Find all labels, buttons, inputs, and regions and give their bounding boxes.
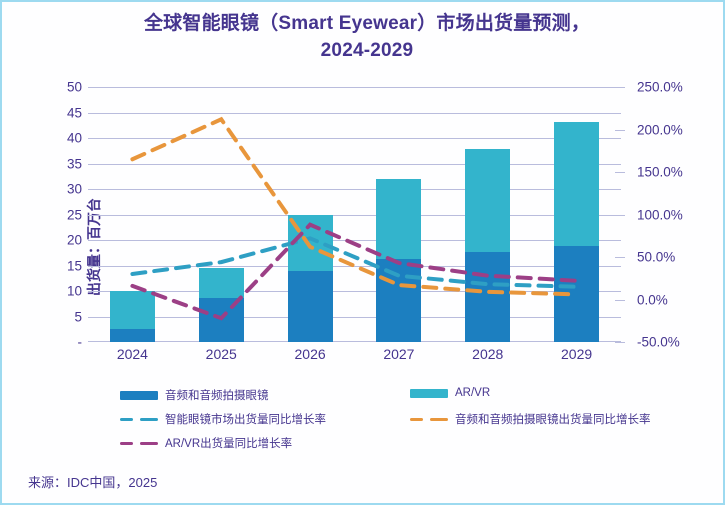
- y-axis-left-tick: 45: [42, 105, 82, 120]
- x-axis-tick-2026: 2026: [275, 346, 345, 362]
- y-axis-right-tick: 200.0%: [637, 122, 683, 137]
- y-axis-right-tick: 250.0%: [637, 80, 683, 95]
- y-axis-left-tick: 40: [42, 131, 82, 146]
- y-axis-right-tickmark: [615, 87, 625, 88]
- chart-frame: 全球智能眼镜（Smart Eyewear）市场出货量预测， 2024-2029 …: [0, 0, 725, 505]
- x-axis-tick-2029: 2029: [542, 346, 612, 362]
- legend-label: 音频和音频拍摄眼镜出货量同比增长率: [455, 411, 651, 427]
- plot-area: [88, 87, 621, 342]
- legend-swatch-dash: [120, 439, 158, 448]
- y-axis-left-tick: 35: [42, 156, 82, 171]
- legend-item[interactable]: 音频和音频拍摄眼镜: [120, 387, 269, 403]
- legend-swatch-bar: [410, 389, 448, 398]
- gridline: [88, 215, 621, 216]
- chart-title-line1: 全球智能眼镜（Smart Eyewear）市场出货量预测，: [62, 10, 672, 37]
- y-axis-left: 出货量：百万台 5045403530252015105-: [36, 87, 82, 342]
- legend-label: AR/VR出货量同比增长率: [165, 435, 292, 451]
- y-axis-left-tick: 5: [42, 309, 82, 324]
- bar-column[interactable]: [554, 87, 599, 342]
- legend-item[interactable]: AR/VR: [410, 387, 490, 399]
- x-axis-labels: 202420252026202720282029: [88, 346, 621, 370]
- bar-column[interactable]: [110, 87, 155, 342]
- y-axis-left-tick: 25: [42, 207, 82, 222]
- bar-segment-audio[interactable]: [110, 329, 155, 342]
- bar-column[interactable]: [376, 87, 421, 342]
- chart-legend: 音频和音频拍摄眼镜AR/VR智能眼镜市场出货量同比增长率音频和音频拍摄眼镜出货量…: [120, 387, 680, 457]
- y-axis-right-tickmark: [615, 342, 625, 343]
- gridline: [88, 189, 621, 190]
- legend-item[interactable]: 智能眼镜市场出货量同比增长率: [120, 411, 326, 427]
- gridline: [88, 291, 621, 292]
- y-axis-right-tick: 50.0%: [637, 250, 675, 265]
- legend-swatch-dash: [120, 415, 158, 424]
- x-axis-tick-2027: 2027: [364, 346, 434, 362]
- bar-segment-audio[interactable]: [376, 259, 421, 342]
- legend-label: 智能眼镜市场出货量同比增长率: [165, 411, 326, 427]
- y-axis-right-tickmark: [615, 172, 625, 173]
- y-axis-right-tick: 0.0%: [637, 292, 668, 307]
- gridline: [88, 87, 621, 88]
- y-axis-right-tickmark: [615, 130, 625, 131]
- legend-item[interactable]: AR/VR出货量同比增长率: [120, 435, 292, 451]
- y-axis-right-tickmark: [615, 257, 625, 258]
- gridline: [88, 164, 621, 165]
- bar-segment-arvr[interactable]: [376, 179, 421, 259]
- bar-segment-arvr[interactable]: [110, 291, 155, 329]
- y-axis-right-tick: 100.0%: [637, 207, 683, 222]
- gridline: [88, 113, 621, 114]
- y-axis-right-tickmark: [615, 300, 625, 301]
- bar-segment-audio[interactable]: [465, 252, 510, 342]
- x-axis-tick-2025: 2025: [186, 346, 256, 362]
- bar-column[interactable]: [288, 87, 333, 342]
- legend-swatch-dash: [410, 415, 448, 424]
- x-axis-tick-2024: 2024: [97, 346, 167, 362]
- chart-title-line2: 2024-2029: [62, 37, 672, 64]
- legend-label: AR/VR: [455, 387, 490, 399]
- gridline: [88, 317, 621, 318]
- bar-column[interactable]: [199, 87, 244, 342]
- y-axis-left-tick: 50: [42, 80, 82, 95]
- y-axis-right-tickmark: [615, 215, 625, 216]
- bar-segment-arvr[interactable]: [288, 215, 333, 271]
- chart-title: 全球智能眼镜（Smart Eyewear）市场出货量预测， 2024-2029: [62, 10, 672, 64]
- x-axis-tick-2028: 2028: [453, 346, 523, 362]
- gridline: [88, 240, 621, 241]
- y-axis-left-tick: 30: [42, 182, 82, 197]
- y-axis-left-tick: -: [42, 335, 82, 350]
- bar-segment-audio[interactable]: [199, 298, 244, 342]
- bar-segment-arvr[interactable]: [199, 268, 244, 298]
- legend-item[interactable]: 音频和音频拍摄眼镜出货量同比增长率: [410, 411, 651, 427]
- source-note: 来源：IDC中国，2025: [28, 472, 157, 491]
- legend-label: 音频和音频拍摄眼镜: [165, 387, 269, 403]
- y-axis-right: 250.0%200.0%150.0%100.0%50.0%0.0%-50.0%: [627, 87, 707, 342]
- gridline: [88, 138, 621, 139]
- y-axis-right-tick: -50.0%: [637, 335, 680, 350]
- y-axis-left-tick: 20: [42, 233, 82, 248]
- y-axis-left-tick: 10: [42, 284, 82, 299]
- bar-segment-audio[interactable]: [554, 246, 599, 342]
- x-axis-line: [88, 341, 621, 342]
- bar-segment-arvr[interactable]: [554, 122, 599, 246]
- bar-segment-arvr[interactable]: [465, 149, 510, 252]
- y-axis-left-tick: 15: [42, 258, 82, 273]
- y-axis-right-tick: 150.0%: [637, 165, 683, 180]
- gridline: [88, 266, 621, 267]
- legend-swatch-bar: [120, 391, 158, 400]
- bar-segment-audio[interactable]: [288, 271, 333, 342]
- bar-column[interactable]: [465, 87, 510, 342]
